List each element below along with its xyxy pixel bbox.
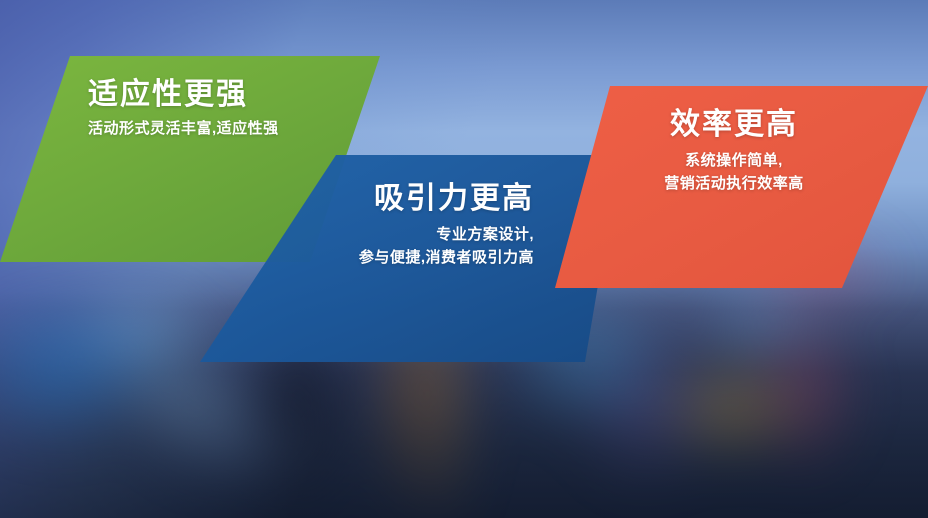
feature-title-efficiency: 效率更高 xyxy=(670,108,798,141)
feature-subtitle-attractiveness: 专业方案设计, 参与便捷,消费者吸引力高 xyxy=(359,223,534,270)
feature-subtitle-adaptability: 活动形式灵活丰富,适应性强 xyxy=(88,117,279,140)
feature-title-adaptability: 适应性更强 xyxy=(88,78,248,111)
banner-stage: 适应性更强 活动形式灵活丰富,适应性强 吸引力更高 专业方案设计, 参与便捷,消… xyxy=(0,0,928,518)
feature-subtitle-efficiency: 系统操作简单, 营销活动执行效率高 xyxy=(664,149,804,196)
feature-title-attractiveness: 吸引力更高 xyxy=(374,182,534,215)
